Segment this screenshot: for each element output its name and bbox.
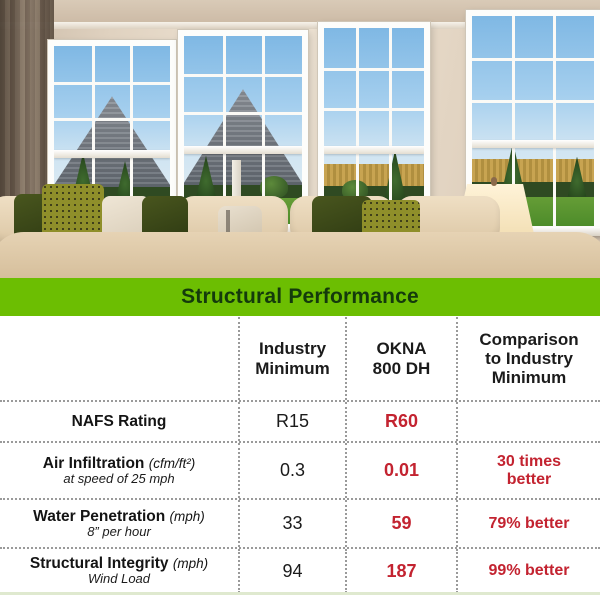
row-comparison <box>456 402 600 441</box>
industry-minimum-value: R15 <box>276 411 309 432</box>
metric-label: Air Infiltration (cfm/ft²) <box>43 455 195 472</box>
header-line: to Industry <box>485 349 573 368</box>
row-comparison: 79% better <box>456 500 600 547</box>
metric-label: NAFS Rating <box>72 413 167 430</box>
industry-minimum-value: 94 <box>282 561 302 582</box>
header-line: 800 DH <box>373 359 431 378</box>
metric-name: Structural Integrity <box>30 555 169 572</box>
window-muntin <box>54 118 170 121</box>
row-industry-minimum: 33 <box>238 500 345 547</box>
lamp-finial <box>491 177 497 186</box>
metric-sublabel: at speed of 25 mph <box>63 472 174 487</box>
infographic-page: Structural Performance Industry Minimum … <box>0 0 600 600</box>
okna-value: R60 <box>385 411 418 432</box>
metric-unit: (mph) <box>170 509 205 524</box>
row-okna-value: R60 <box>345 402 456 441</box>
row-comparison: 99% better <box>456 549 600 593</box>
header-line: OKNA <box>376 339 426 358</box>
metric-unit: (cfm/ft²) <box>149 456 196 471</box>
header-cell-comparison: Comparison to Industry Minimum <box>456 317 600 400</box>
sectional-sofa <box>0 186 600 278</box>
row-comparison: 30 times better <box>456 443 600 498</box>
window-muntin <box>54 82 170 85</box>
window-sash-rail <box>54 150 170 158</box>
table-row: Structural Integrity (mph) Wind Load 94 … <box>0 549 600 593</box>
bottom-accent-line <box>0 592 600 595</box>
row-metric: Water Penetration (mph) 8” per hour <box>0 500 238 547</box>
okna-value: 0.01 <box>384 460 419 481</box>
window-muntin <box>184 112 302 115</box>
row-metric: NAFS Rating <box>0 402 238 441</box>
hero-photo <box>0 0 600 278</box>
header-line: Minimum <box>255 359 330 378</box>
row-metric: Air Infiltration (cfm/ft²) at speed of 2… <box>0 443 238 498</box>
table-row: NAFS Rating R15 R60 <box>0 402 600 443</box>
metric-name: Air Infiltration <box>43 455 145 472</box>
header-cell-okna-800-dh: OKNA 800 DH <box>345 317 456 400</box>
metric-label: Water Penetration (mph) <box>33 508 205 525</box>
metric-name: Water Penetration <box>33 508 165 525</box>
metric-sublabel: 8” per hour <box>87 525 151 540</box>
window-sash-rail <box>324 146 424 154</box>
section-title-banner: Structural Performance <box>0 278 600 316</box>
industry-minimum-value: 0.3 <box>280 460 305 481</box>
metric-unit: (mph) <box>173 556 208 571</box>
table-row: Air Infiltration (cfm/ft²) at speed of 2… <box>0 443 600 500</box>
comparison-line: 99% better <box>489 562 570 580</box>
row-industry-minimum: 0.3 <box>238 443 345 498</box>
header-line: Minimum <box>492 368 567 387</box>
table-header-row: Industry Minimum OKNA 800 DH Comparison … <box>0 317 600 402</box>
table-row: Water Penetration (mph) 8” per hour 33 5… <box>0 500 600 549</box>
comparison-line: 30 times <box>497 453 561 471</box>
row-industry-minimum: 94 <box>238 549 345 593</box>
okna-value: 187 <box>386 561 416 582</box>
header-line: Comparison <box>479 330 578 349</box>
row-industry-minimum: R15 <box>238 402 345 441</box>
sofa-seat <box>0 232 600 278</box>
industry-minimum-value: 33 <box>282 513 302 534</box>
metric-label: Structural Integrity (mph) <box>30 555 208 572</box>
comparison-line: 79% better <box>489 515 570 533</box>
page-title: Structural Performance <box>181 285 419 309</box>
row-metric: Structural Integrity (mph) Wind Load <box>0 549 238 593</box>
window-muntin <box>472 100 594 103</box>
window-sash-rail <box>472 140 594 148</box>
window-sash-rail <box>184 146 302 154</box>
row-okna-value: 187 <box>345 549 456 593</box>
comparison-line: better <box>507 471 551 489</box>
header-cell-industry-minimum: Industry Minimum <box>238 317 345 400</box>
header-line: Industry <box>259 339 326 358</box>
window-muntin <box>324 68 424 71</box>
okna-value: 59 <box>391 513 411 534</box>
metric-sublabel: Wind Load <box>88 572 150 587</box>
row-okna-value: 59 <box>345 500 456 547</box>
window-muntin <box>324 108 424 111</box>
row-okna-value: 0.01 <box>345 443 456 498</box>
window-muntin <box>184 74 302 77</box>
window-muntin <box>472 58 594 61</box>
header-cell-metric <box>0 317 238 400</box>
structural-performance-table: Industry Minimum OKNA 800 DH Comparison … <box>0 317 600 593</box>
